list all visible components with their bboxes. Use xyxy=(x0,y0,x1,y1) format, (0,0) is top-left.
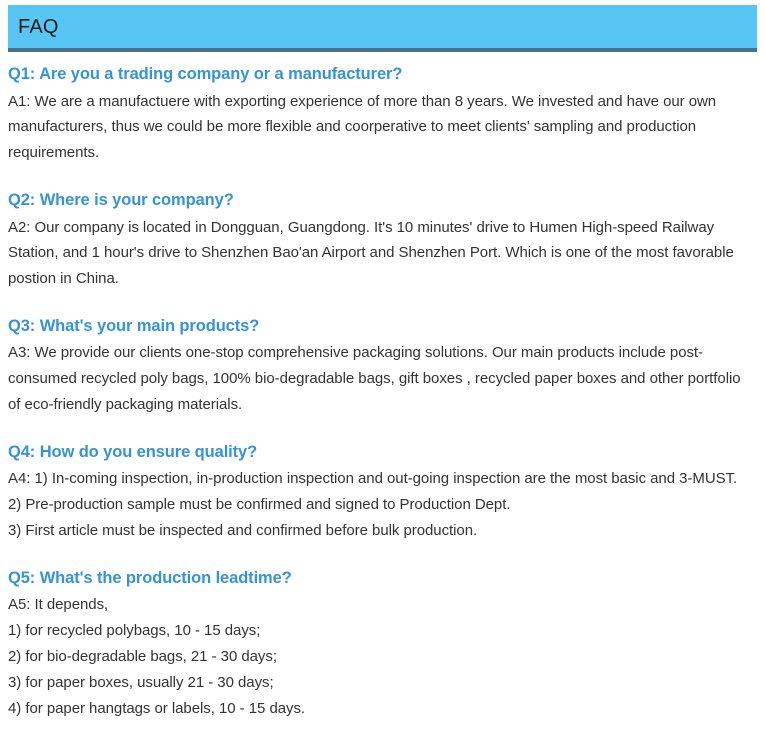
faq-list: Q1: Are you a trading company or a manuf… xyxy=(8,62,753,721)
faq-item: Q3: What's your main products? A3: We pr… xyxy=(8,314,753,418)
faq-answer: A2: Our company is located in Dongguan, … xyxy=(8,215,753,292)
faq-question: Q1: Are you a trading company or a manuf… xyxy=(8,62,753,88)
faq-answer-line: 2) for bio-degradable bags, 21 - 30 days… xyxy=(8,644,753,670)
faq-question: Q5: What's the production leadtime? xyxy=(8,566,753,592)
faq-page: FAQ Q1: Are you a trading company or a m… xyxy=(0,0,765,748)
faq-item: Q2: Where is your company? A2: Our compa… xyxy=(8,188,753,292)
faq-item: Q5: What's the production leadtime? A5: … xyxy=(8,566,753,722)
faq-answer-lines: A5: It depends, 1) for recycled polybags… xyxy=(8,592,753,721)
faq-item: Q4: How do you ensure quality? A4: 1) In… xyxy=(8,440,753,544)
faq-banner: FAQ xyxy=(8,5,757,52)
faq-question: Q4: How do you ensure quality? xyxy=(8,440,753,466)
faq-item: Q1: Are you a trading company or a manuf… xyxy=(8,62,753,166)
faq-answer-line: 1) for recycled polybags, 10 - 15 days; xyxy=(8,618,753,644)
faq-question: Q3: What's your main products? xyxy=(8,314,753,340)
faq-answer-line: 3) First article must be inspected and c… xyxy=(8,518,753,544)
faq-answer: A1: We are a manufactuere with exporting… xyxy=(8,89,753,166)
faq-answer-line: 4) for paper hangtags or labels, 10 - 15… xyxy=(8,696,753,722)
faq-question: Q2: Where is your company? xyxy=(8,188,753,214)
faq-answer-line: 2) Pre-production sample must be confirm… xyxy=(8,492,753,518)
faq-answer-lines: A4: 1) In-coming inspection, in-producti… xyxy=(8,466,753,543)
faq-answer-line: A4: 1) In-coming inspection, in-producti… xyxy=(8,466,753,492)
faq-answer-line: A5: It depends, xyxy=(8,592,753,618)
faq-answer-line: 3) for paper boxes, usually 21 - 30 days… xyxy=(8,670,753,696)
page-title: FAQ xyxy=(8,17,59,37)
faq-answer: A3: We provide our clients one-stop comp… xyxy=(8,340,753,417)
